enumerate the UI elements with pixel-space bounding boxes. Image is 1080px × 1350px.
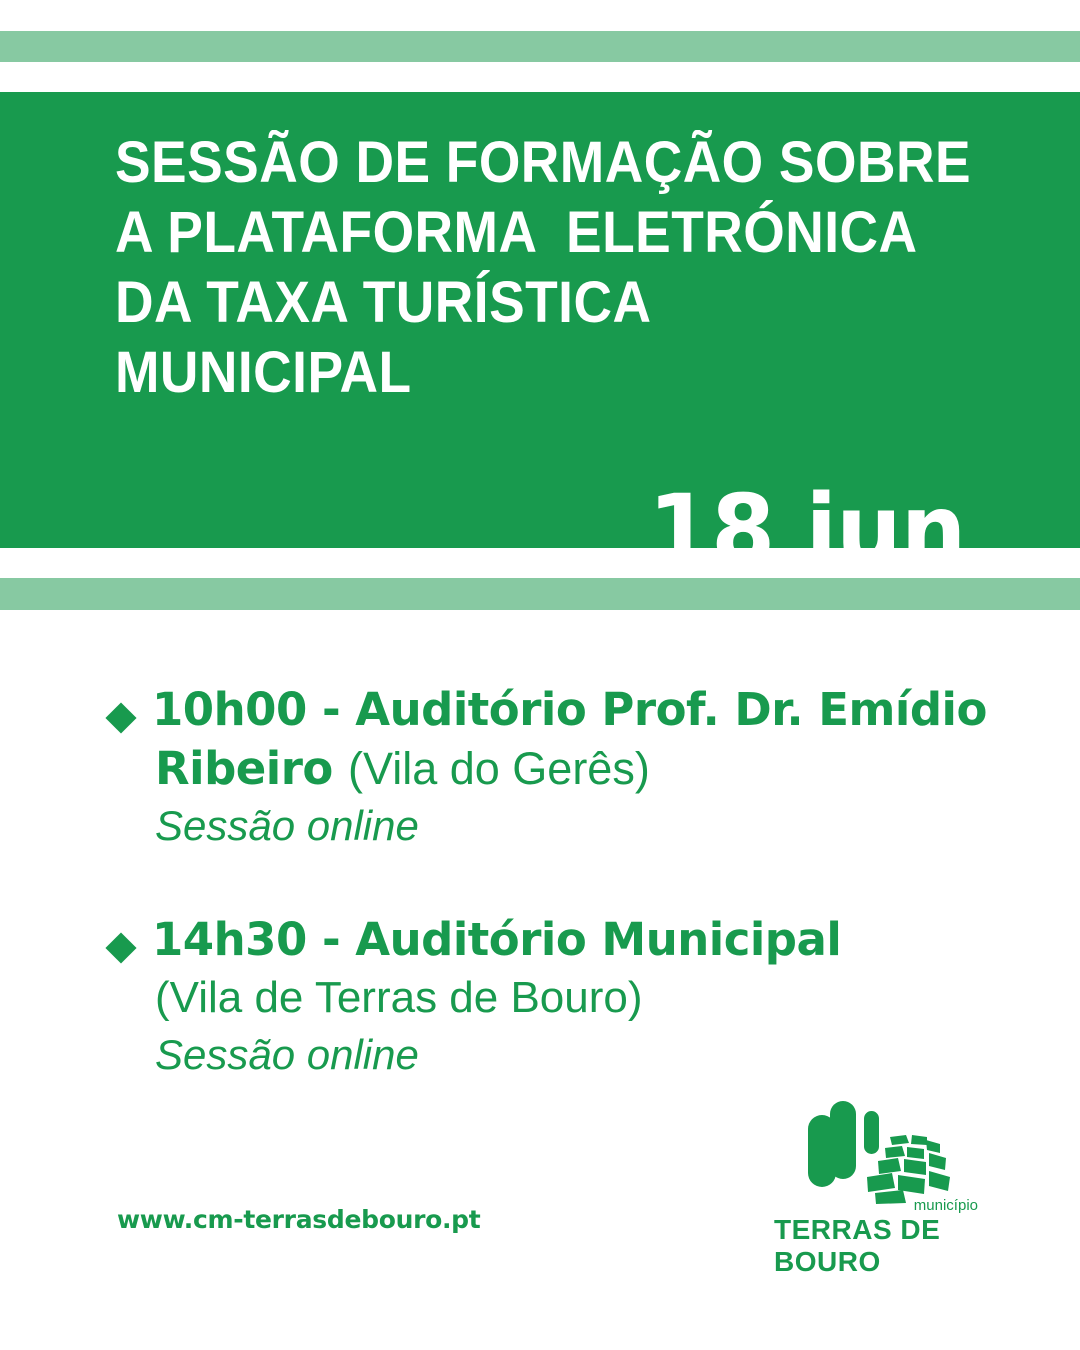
entry-place-text: (Vila do Gerês) xyxy=(348,743,650,794)
entry-venue-text: 14h30 - Auditório Municipal xyxy=(152,913,841,966)
terras-de-bouro-emblem-icon xyxy=(790,1093,960,1205)
entry-note: Sessão online xyxy=(155,798,1080,854)
diamond-bullet-icon xyxy=(105,702,136,733)
entry-headline: 10h00 - Auditório Prof. Dr. Emídio Ribei… xyxy=(155,680,1045,798)
schedule-list: 10h00 - Auditório Prof. Dr. Emídio Ribei… xyxy=(0,680,1080,1139)
poster-title: SESSÃO DE FORMAÇÃO SOBRE A PLATAFORMA EL… xyxy=(115,128,943,408)
poster-canvas: SESSÃO DE FORMAÇÃO SOBRE A PLATAFORMA EL… xyxy=(0,0,1080,1350)
event-date: 18 jun xyxy=(648,480,965,580)
municipality-logo: município TERRAS DE BOURO xyxy=(770,1093,990,1243)
schedule-entry: 10h00 - Auditório Prof. Dr. Emídio Ribei… xyxy=(0,680,1080,854)
hero-banner: SESSÃO DE FORMAÇÃO SOBRE A PLATAFORMA EL… xyxy=(0,92,1080,548)
entry-place-text: (Vila de Terras de Bouro) xyxy=(155,969,1080,1027)
entry-note: Sessão online xyxy=(155,1027,1080,1083)
entry-headline: 14h30 - Auditório Municipal xyxy=(155,910,1045,969)
top-accent-band xyxy=(0,31,1080,62)
logo-kicker: município xyxy=(914,1197,978,1214)
schedule-entry: 14h30 - Auditório Municipal (Vila de Ter… xyxy=(0,910,1080,1083)
website-url[interactable]: www.cm-terrasdebouro.pt xyxy=(117,1205,480,1234)
bottom-accent-band xyxy=(0,578,1080,610)
diamond-bullet-icon xyxy=(105,932,136,963)
logo-wordmark: TERRAS DE BOURO xyxy=(774,1214,990,1278)
